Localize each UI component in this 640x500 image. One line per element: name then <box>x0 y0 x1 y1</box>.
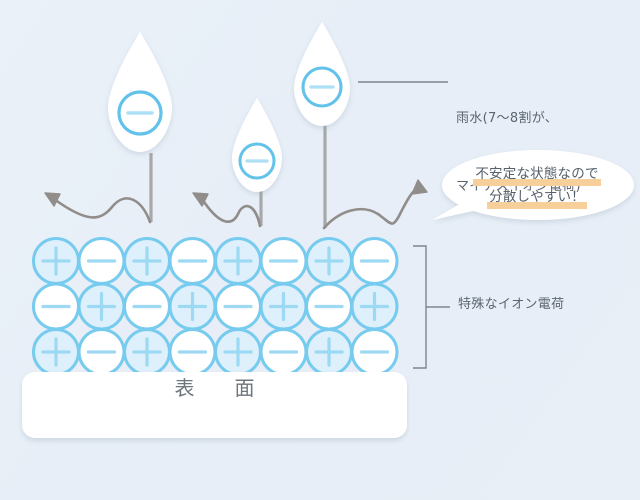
ion-positive <box>216 239 261 284</box>
arrowhead-right <box>412 180 427 194</box>
ion-positive <box>170 284 215 329</box>
droplet-right-charge <box>303 68 341 106</box>
ion-negative <box>352 330 397 375</box>
droplet-left-charge <box>119 92 161 134</box>
ion-positive <box>307 330 352 375</box>
ion-positive <box>34 239 79 284</box>
ion-charge-bracket <box>413 246 450 368</box>
repulsion-arrow-right <box>324 186 419 228</box>
ion-negative <box>79 330 124 375</box>
repulsion-arrow-middle <box>202 199 260 226</box>
ion-grid <box>34 239 398 375</box>
repulsion-arrows <box>45 180 427 228</box>
ion-negative <box>216 284 261 329</box>
ion-positive <box>216 330 261 375</box>
ion-negative <box>34 284 79 329</box>
ion-positive <box>307 239 352 284</box>
ion-negative <box>352 239 397 284</box>
speech-bubble-line2: 分散しやすい！ <box>487 186 587 209</box>
ion-positive <box>125 330 170 375</box>
surface-panel: 表 面 <box>22 372 407 438</box>
repulsion-arrow-left <box>54 198 150 222</box>
ion-positive <box>261 284 306 329</box>
ion-negative <box>170 239 215 284</box>
rain-label-line1: 雨水(7〜8割が、 <box>456 108 581 131</box>
speech-bubble-line1-wrap: 不安定な状態なので <box>452 163 622 186</box>
ion-negative <box>79 239 124 284</box>
ion-positive <box>34 330 79 375</box>
speech-bubble-text: 不安定な状態なので 分散しやすい！ <box>452 163 622 209</box>
rain-label: 雨水(7〜8割が、 マイナスイオン電荷) <box>456 62 581 244</box>
droplet-middle-charge <box>240 144 274 178</box>
diagram-canvas: 雨水(7〜8割が、 マイナスイオン電荷) 特殊なイオン電荷 不安定な状態なので … <box>0 0 640 500</box>
ion-negative <box>261 330 306 375</box>
ion-charge-label: 特殊なイオン電荷 <box>458 294 564 317</box>
ion-positive <box>79 284 124 329</box>
arrowhead-left <box>45 193 60 206</box>
ion-positive <box>125 239 170 284</box>
ion-negative <box>125 284 170 329</box>
speech-bubble-line1: 不安定な状態なので <box>473 163 600 186</box>
ion-positive <box>352 284 397 329</box>
ion-negative <box>307 284 352 329</box>
surface-label: 表 面 <box>22 372 407 401</box>
ion-negative <box>170 330 215 375</box>
ion-negative <box>261 239 306 284</box>
speech-bubble-line2-wrap: 分散しやすい！ <box>452 186 622 209</box>
